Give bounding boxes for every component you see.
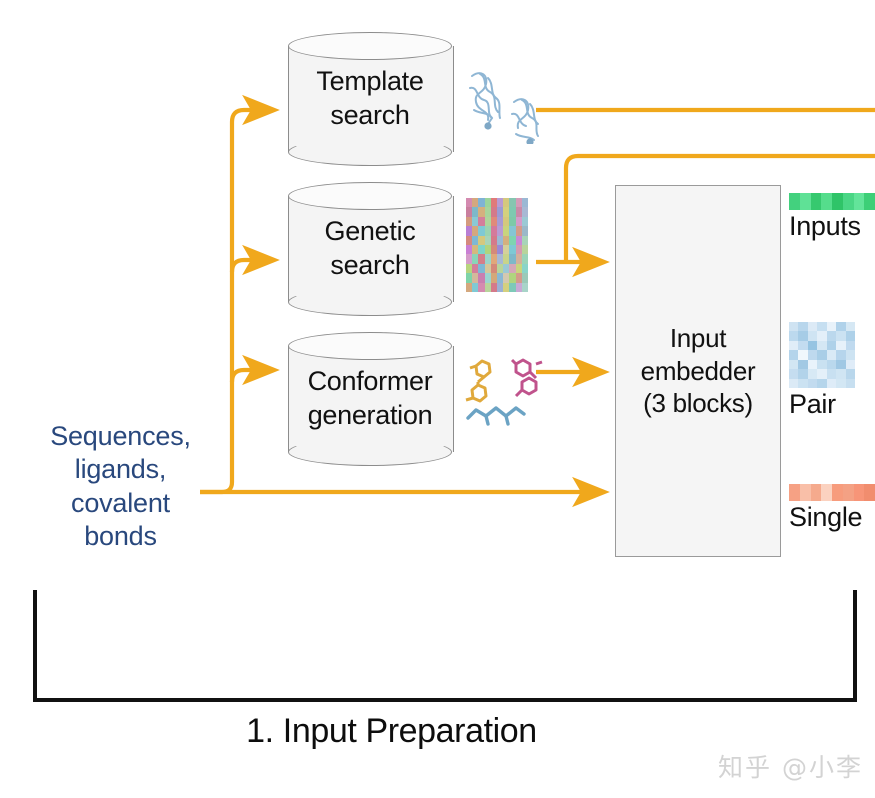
strip-segment [854,484,865,501]
pair-cell [827,341,836,350]
stage-label-line1: Template [316,65,423,99]
msa-row [466,217,528,226]
pair-cell [846,331,855,340]
output-inputs-label: Inputs [789,212,875,242]
pair-cell [836,369,845,378]
inputs-source-line-2: ligands, [18,453,223,486]
stage-label-line2: generation [308,399,433,433]
pair-cell [817,331,826,340]
msa-row [466,207,528,216]
stage-label-line1: Genetic [325,215,416,249]
stage-template-search-label: Template search [288,32,452,166]
inputs-source-label: Sequences,ligands,covalentbonds [18,420,223,554]
stage-template-search[interactable]: Template search [288,32,452,166]
pair-cell [789,322,798,331]
msa-row [466,283,528,292]
pair-cell [846,322,855,331]
stage-genetic-search[interactable]: Genetic search [288,182,452,316]
strip-segment [789,193,800,210]
pair-cell [836,341,845,350]
output-pair-label: Pair [789,390,855,420]
pair-cell [836,360,845,369]
pair-cell [836,322,845,331]
msa-row [466,264,528,273]
strip-segment [832,484,843,501]
strip-segment [800,484,811,501]
pair-cell [789,341,798,350]
pair-cell [798,360,807,369]
pair-cell [789,350,798,359]
strip-segment [832,193,843,210]
pair-cell [836,350,845,359]
pair-cell [789,331,798,340]
strip-segment [821,484,832,501]
msa-row [466,245,528,254]
msa-row [466,273,528,282]
pair-cell [808,331,817,340]
page-title: 1. Input Preparation [0,712,875,751]
pair-cell [827,379,836,388]
pair-cell [827,369,836,378]
output-single: Single [789,484,875,533]
msa-residue-block [522,245,528,254]
pair-cell [827,331,836,340]
msa-row [466,198,528,207]
strip-segment [821,193,832,210]
pair-cell [827,322,836,331]
output-pair: Pair [789,322,855,420]
msa-row [466,254,528,263]
pair-cell [836,331,845,340]
strip-segment [864,193,875,210]
msa-row [466,236,528,245]
msa-residue-block [522,207,528,216]
strip-segment [854,193,865,210]
pair-cell [798,369,807,378]
strip-segment [864,484,875,501]
stage-label-line2: search [330,99,409,133]
input-embedder-label: Input embedder (3 blocks) [641,322,756,420]
msa-residue-block [522,198,528,207]
pair-cell [798,341,807,350]
pair-cell [817,360,826,369]
page-title-text: 1. Input Preparation [246,712,537,751]
msa-residue-block [522,273,528,282]
pair-cell [817,379,826,388]
msa-residue-block [522,254,528,263]
pair-cell [808,322,817,331]
pair-cell [836,379,845,388]
pair-cell [808,379,817,388]
inputs-source-line-3: covalent [18,487,223,520]
pair-cell [827,350,836,359]
output-inputs: Inputs [789,193,875,242]
msa-alignment-icon [466,198,528,292]
stage-conformer-generation-label: Conformer generation [288,332,452,466]
stage-conformer-generation[interactable]: Conformer generation [288,332,452,466]
pair-cell [808,341,817,350]
inputs-source-line-1: Sequences, [18,420,223,453]
embedder-line2: embedder [641,355,756,388]
pair-cell [789,369,798,378]
stage-label-line2: search [330,249,409,283]
pair-cell [808,360,817,369]
inputs-color-strip [789,193,875,210]
pair-cell [846,341,855,350]
msa-residue-block [522,236,528,245]
stage-label-line1: Conformer [308,365,433,399]
section-bracket [0,560,875,720]
small-molecules-icon [458,352,554,434]
input-embedder-box[interactable]: Input embedder (3 blocks) [615,185,781,557]
pair-cell [846,369,855,378]
pair-cell [808,369,817,378]
pair-cell [846,379,855,388]
pair-cell [846,360,855,369]
single-color-strip [789,484,875,501]
protein-structures-icon [458,62,550,144]
watermark: 知乎 @小李 [718,748,863,784]
strip-segment [789,484,800,501]
embedder-line3: (3 blocks) [641,387,756,420]
pair-cell [789,379,798,388]
pair-cell [798,379,807,388]
pair-cell [798,331,807,340]
pair-cell [817,322,826,331]
msa-row [466,226,528,235]
inputs-source-line-4: bonds [18,520,223,553]
pair-cell [827,360,836,369]
pair-cell [789,360,798,369]
pair-cell [798,322,807,331]
pair-heatmap [789,322,855,388]
stage-genetic-search-label: Genetic search [288,182,452,316]
strip-segment [811,193,822,210]
strip-segment [843,484,854,501]
pair-cell [817,341,826,350]
pair-cell [808,350,817,359]
msa-residue-block [522,226,528,235]
strip-segment [811,484,822,501]
pair-cell [817,369,826,378]
msa-residue-block [522,217,528,226]
strip-segment [843,193,854,210]
msa-residue-block [522,283,528,292]
pair-cell [817,350,826,359]
pair-cell [846,350,855,359]
embedder-line1: Input [641,322,756,355]
diagram-canvas: Template search Genetic search Conformer… [0,0,875,798]
output-single-label: Single [789,503,875,533]
strip-segment [800,193,811,210]
pair-cell [798,350,807,359]
msa-residue-block [522,264,528,273]
